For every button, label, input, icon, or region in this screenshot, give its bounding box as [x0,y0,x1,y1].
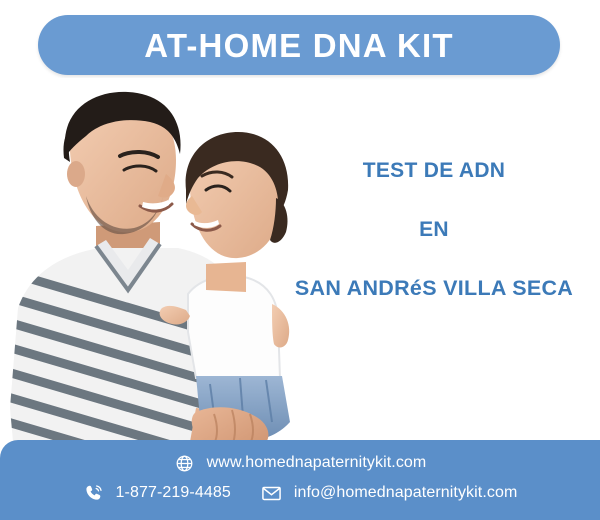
headline-block: TEST DE ADN EN SAN ANDRéS VILLA SECA [278,160,590,300]
email-label: info@homednapaternitykit.com [294,485,518,501]
contact-phone[interactable]: 1-877-219-4485 [83,482,231,504]
contact-website[interactable]: www.homednapaternitykit.com [174,452,427,474]
footer-row-website: www.homednapaternitykit.com [0,452,600,474]
headline-line-1: TEST DE ADN [278,160,590,181]
phone-icon [83,482,105,504]
headline-line-2: EN [278,219,590,240]
headline-line-3: SAN ANDRéS VILLA SECA [278,278,590,300]
globe-icon [174,452,196,474]
page-title: AT-HOME DNA KIT [144,29,453,62]
phone-label: 1-877-219-4485 [116,485,231,501]
footer-row-contact: 1-877-219-4485 info@homednapaternitykit.… [0,482,600,504]
header-pill: AT-HOME DNA KIT [38,15,560,75]
website-label: www.homednapaternitykit.com [207,455,427,471]
contact-email[interactable]: info@homednapaternitykit.com [261,482,518,504]
envelope-icon [261,482,283,504]
poster: AT-HOME DNA KIT [0,0,600,520]
footer-band: www.homednapaternitykit.com 1-877-219-44… [0,440,600,520]
